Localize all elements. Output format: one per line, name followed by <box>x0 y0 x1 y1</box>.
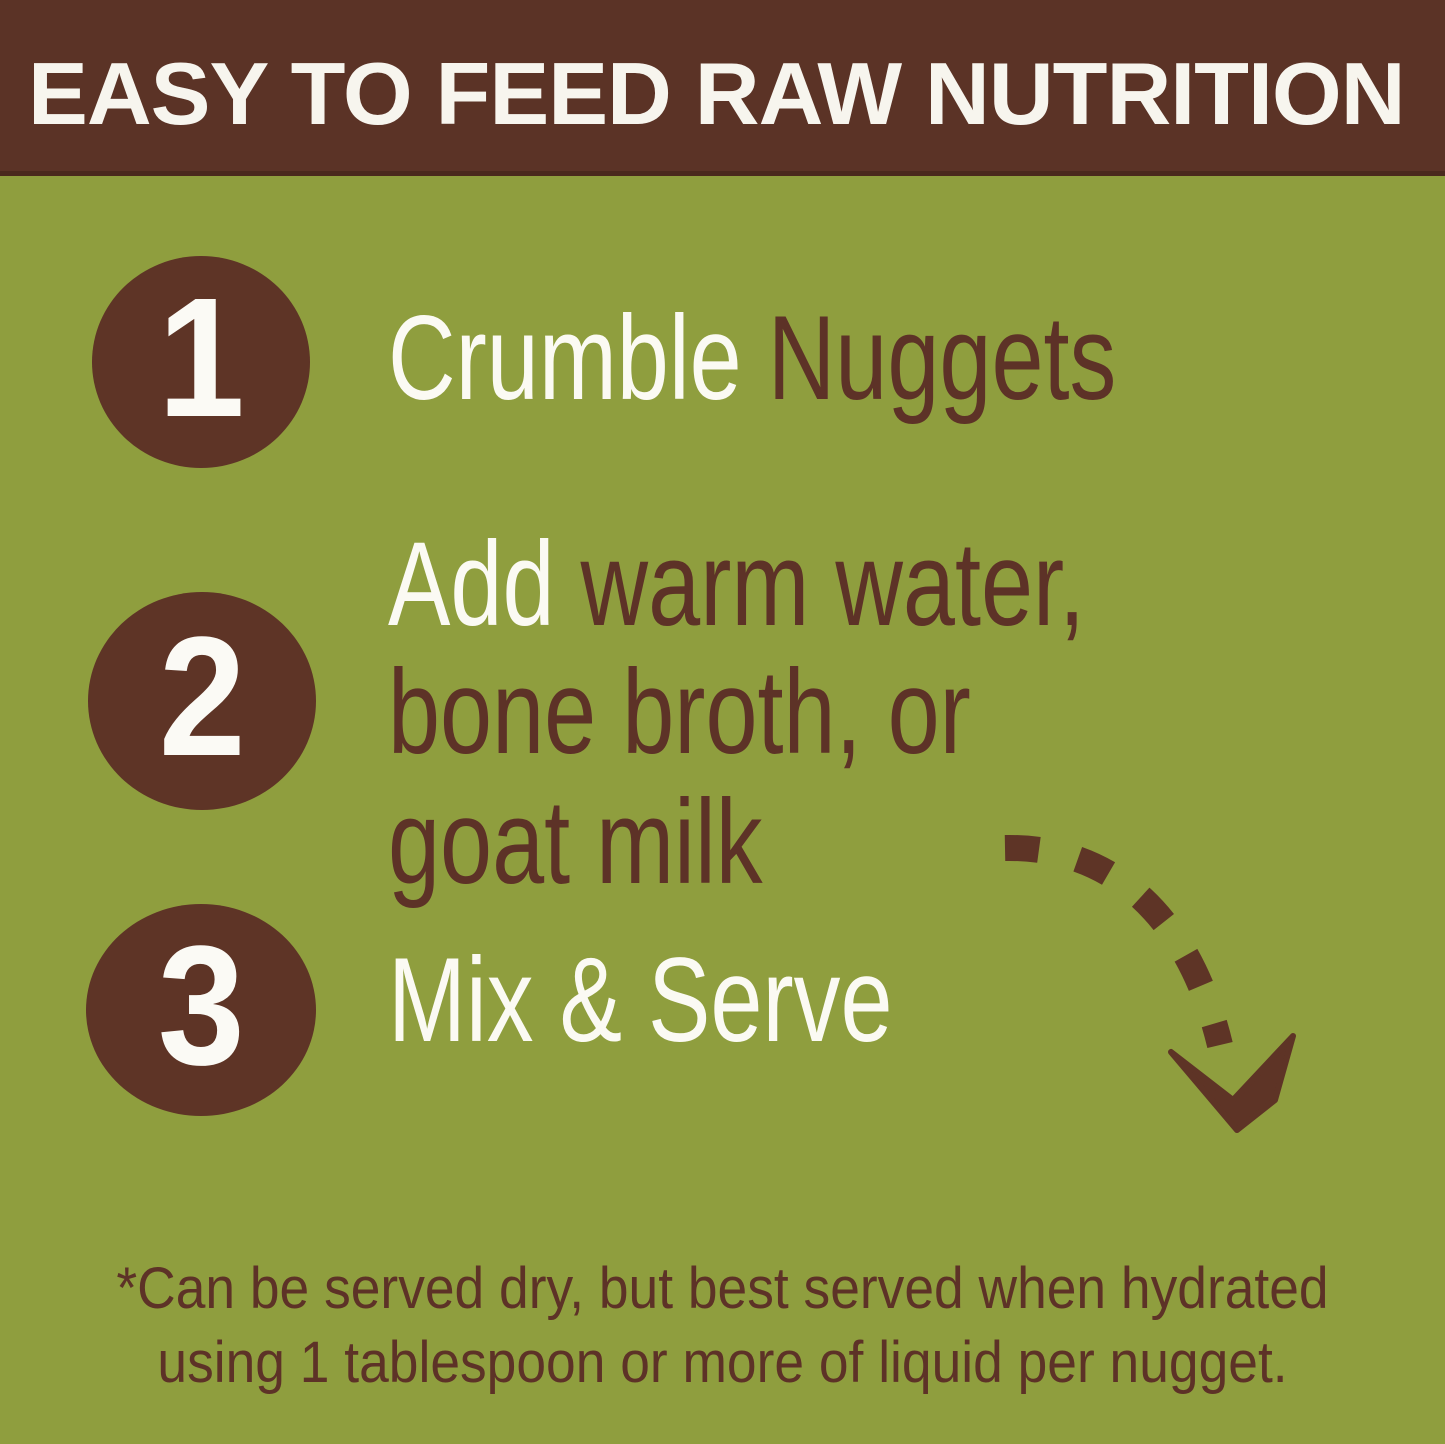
header-bar: EASY TO FEED RAW NUTRITION <box>0 0 1445 176</box>
step-badge-3: 3 <box>86 904 316 1116</box>
step-1-text: Crumble Nuggets <box>388 298 1116 418</box>
easy-to-feed-raw-nutrition-infographic: EASY TO FEED RAW NUTRITION 1 Crumble Nug… <box>0 0 1445 1444</box>
step-number-2: 2 <box>159 612 246 782</box>
step-3-highlight: Mix & Serve <box>388 933 893 1067</box>
step-badge-1: 1 <box>92 256 310 468</box>
footnote-line-2: using 1 tablespoon or more of liquid per… <box>58 1326 1387 1400</box>
step-number-3: 3 <box>158 921 245 1091</box>
step-number-1: 1 <box>158 273 245 443</box>
step-1-rest: Nuggets <box>742 291 1117 425</box>
step-2-rest: warm water, <box>555 517 1086 651</box>
step-2-text-line-2: bone broth, or <box>388 652 971 772</box>
step-3-text: Mix & Serve <box>388 940 893 1060</box>
dashed-curved-arrow-icon <box>975 800 1315 1140</box>
step-2-text-line-3: goat milk <box>388 782 763 902</box>
footnote: *Can be served dry, but best served when… <box>0 1252 1445 1400</box>
step-2-text-line-1: Add warm water, <box>388 524 1085 644</box>
footnote-line-1: *Can be served dry, but best served when… <box>58 1252 1387 1326</box>
step-1-highlight: Crumble <box>388 291 742 425</box>
page-title: EASY TO FEED RAW NUTRITION <box>28 46 1425 142</box>
step-2-highlight: Add <box>388 517 555 651</box>
step-badge-2: 2 <box>88 592 316 810</box>
